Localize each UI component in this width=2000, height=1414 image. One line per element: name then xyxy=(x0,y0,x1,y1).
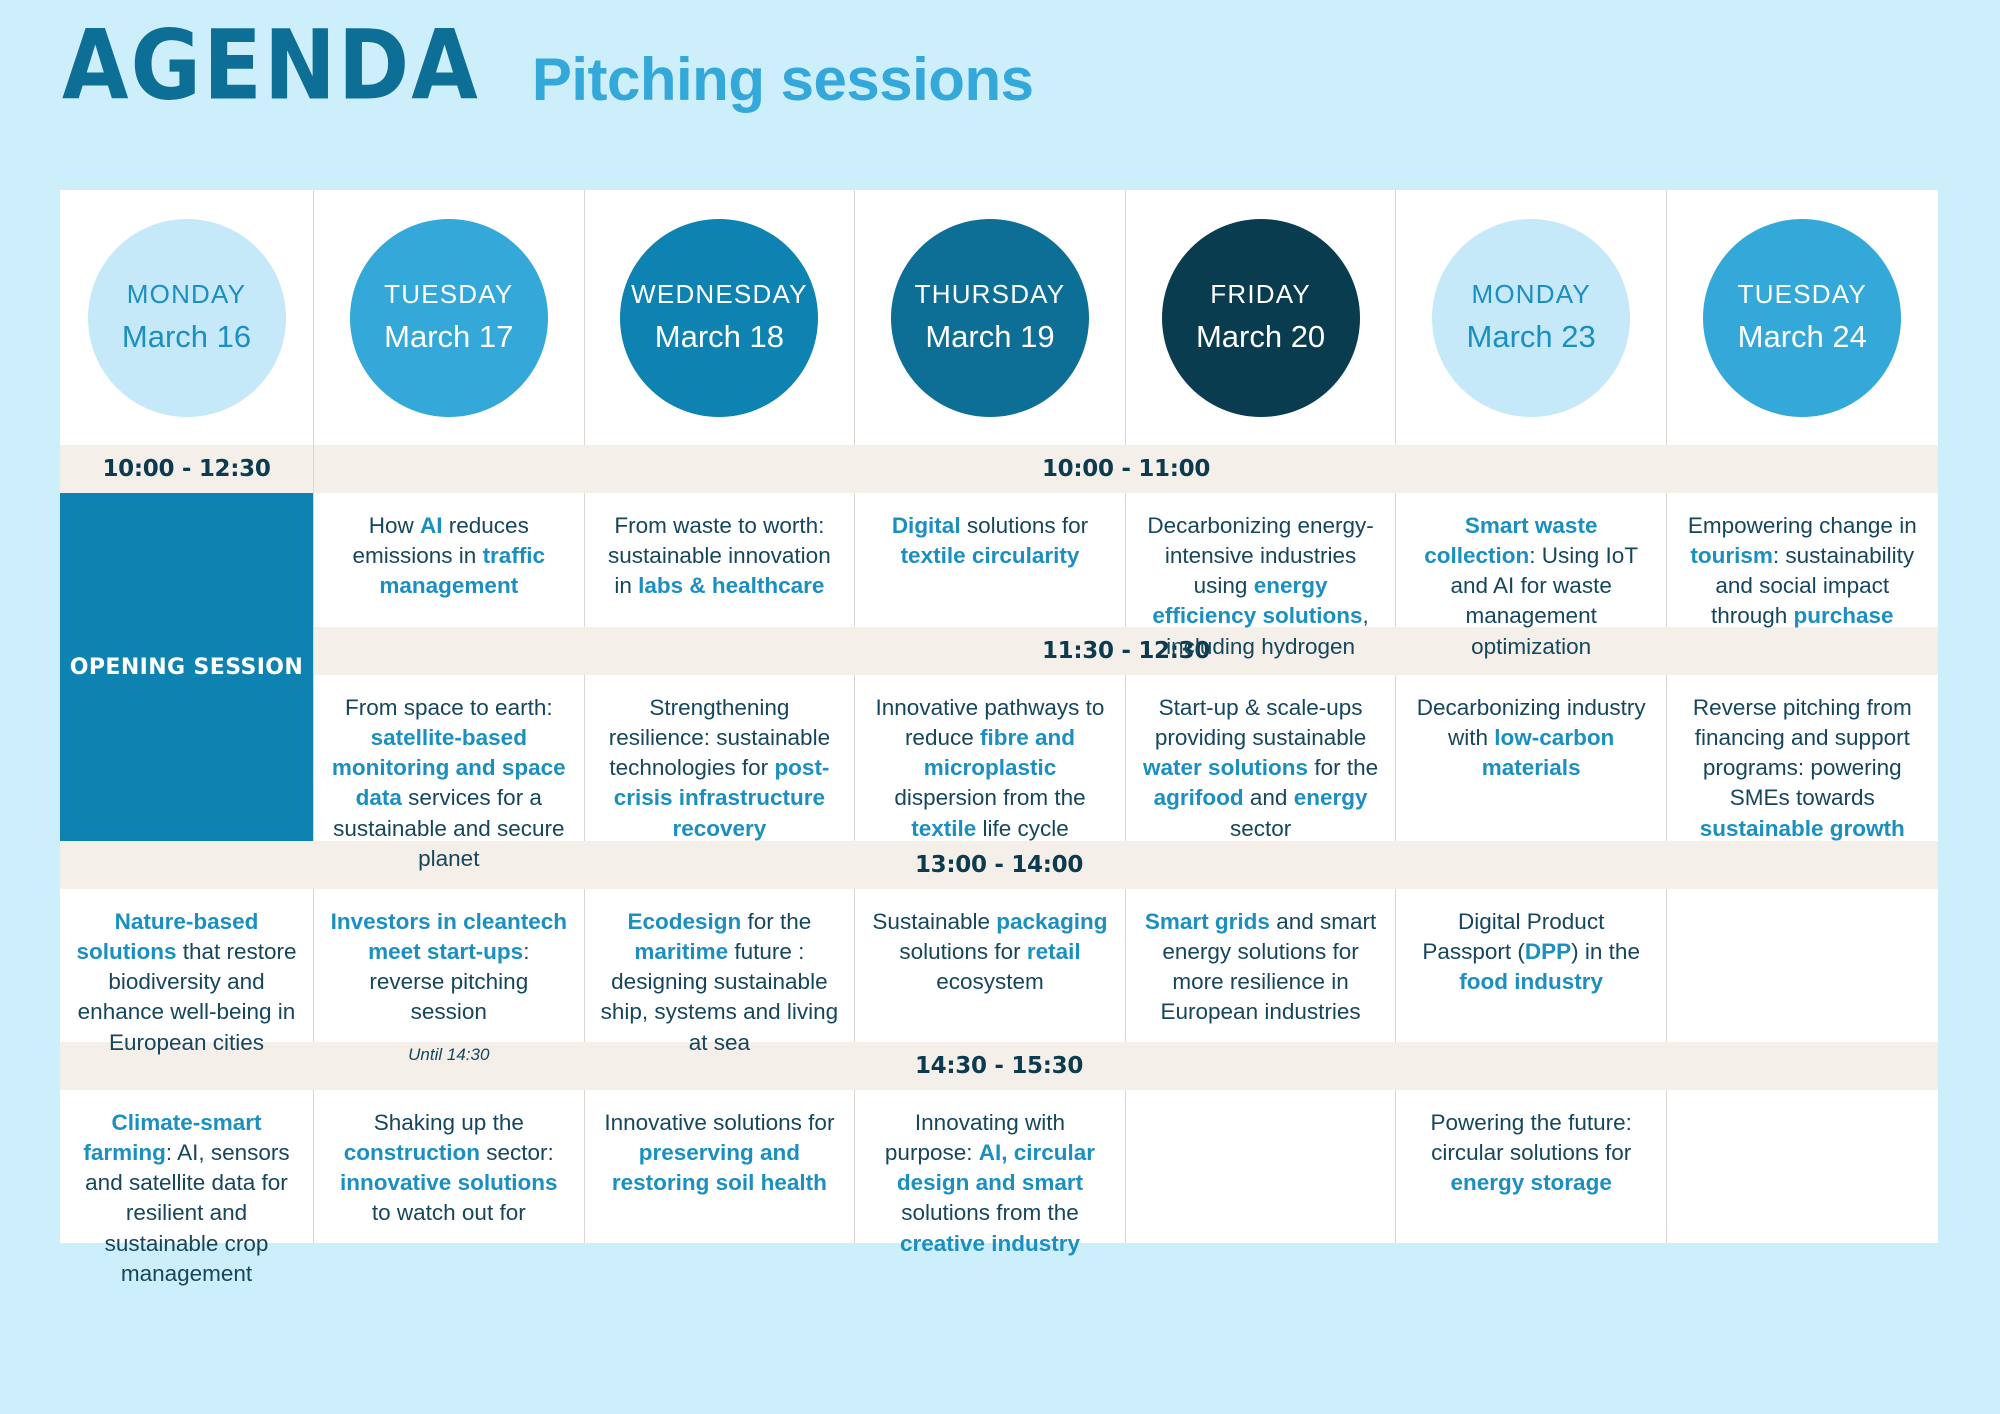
session-text: Digital solutions for textile circularit… xyxy=(892,513,1088,568)
session-text: Innovative solutions for preserving and … xyxy=(604,1110,834,1195)
session-cell[interactable]: Strengthening resilience: sustainable te… xyxy=(585,675,856,841)
session-row-2: From space to earth: satellite-based mon… xyxy=(314,675,1938,841)
session-cell[interactable]: Innovative pathways to reduce fibre and … xyxy=(855,675,1126,841)
page-title: AGENDA xyxy=(62,18,480,114)
day-circle: THURSDAYMarch 19 xyxy=(891,219,1089,417)
session-cell[interactable]: Digital Product Passport (DPP) in the fo… xyxy=(1396,889,1667,1042)
opening-block-row: OPENING SESSION How AI reduces emissions… xyxy=(60,493,1938,841)
day-date: March 20 xyxy=(1196,317,1325,358)
session-cell[interactable]: Reverse pitching from financing and supp… xyxy=(1667,675,1938,841)
day-circle: MONDAYMarch 16 xyxy=(88,219,286,417)
day-date: March 16 xyxy=(122,317,251,358)
session-text: Empowering change in tourism: sustainabi… xyxy=(1688,513,1917,628)
day-column-header-6: MONDAYMarch 23 xyxy=(1396,190,1667,445)
day-name: THURSDAY xyxy=(915,277,1066,311)
day-column-header-5: FRIDAYMarch 20 xyxy=(1126,190,1397,445)
time-band-1000-1100: 10:00 - 11:00 xyxy=(314,445,1938,493)
session-cell[interactable] xyxy=(1667,889,1938,1042)
session-text: Digital Product Passport (DPP) in the fo… xyxy=(1422,909,1640,994)
page-subtitle: Pitching sessions xyxy=(532,50,1034,110)
opening-session-cell: OPENING SESSION xyxy=(60,493,314,841)
day-circle: FRIDAYMarch 20 xyxy=(1162,219,1360,417)
session-cell[interactable]: Innovating with purpose: AI, circular de… xyxy=(855,1090,1126,1243)
time-band-opening: 10:00 - 12:30 xyxy=(60,445,314,493)
day-date: March 18 xyxy=(655,317,784,358)
day-circle: TUESDAYMarch 24 xyxy=(1703,219,1901,417)
time-band-row-1: 10:00 - 12:30 10:00 - 11:00 xyxy=(60,445,1938,493)
day-name: TUESDAY xyxy=(1738,277,1867,311)
time-band-1300-1400: 13:00 - 14:00 xyxy=(60,841,1938,889)
session-text: Decarbonizing energy-intensive industrie… xyxy=(1147,513,1373,659)
session-text: Sustainable packaging solutions for reta… xyxy=(872,909,1107,994)
session-cell[interactable]: From waste to worth: sustainable innovat… xyxy=(585,493,856,627)
session-text: Ecodesign for the maritime future : desi… xyxy=(601,909,839,1055)
session-cell[interactable]: Empowering change in tourism: sustainabi… xyxy=(1667,493,1938,627)
session-cell[interactable] xyxy=(1126,1090,1397,1243)
time-band-1130-1230: 11:30 - 12:30 xyxy=(314,627,1938,675)
agenda-grid: MONDAYMarch 16TUESDAYMarch 17WEDNESDAYMa… xyxy=(60,190,1938,1243)
session-text: Powering the future: circular solutions … xyxy=(1430,1110,1631,1195)
session-text: Shaking up the construction sector: inno… xyxy=(340,1110,558,1225)
day-column-header-2: TUESDAYMarch 17 xyxy=(314,190,585,445)
page-header: AGENDA Pitching sessions xyxy=(0,0,2000,150)
day-date: March 17 xyxy=(384,317,513,358)
day-circle: WEDNESDAYMarch 18 xyxy=(620,219,818,417)
session-text: From waste to worth: sustainable innovat… xyxy=(608,513,831,598)
session-cell[interactable]: Sustainable packaging solutions for reta… xyxy=(855,889,1126,1042)
day-name: MONDAY xyxy=(1471,277,1590,311)
day-date: March 23 xyxy=(1467,317,1596,358)
session-row-3: Nature-based solutions that restore biod… xyxy=(60,889,1938,1042)
session-cell[interactable]: Start-up & scale-ups providing sustainab… xyxy=(1126,675,1397,841)
session-text: Innovative pathways to reduce fibre and … xyxy=(876,695,1105,841)
time-band-row-3: 13:00 - 14:00 xyxy=(60,841,1938,889)
session-text: Smart grids and smart energy solutions f… xyxy=(1145,909,1376,1024)
session-text: Investors in cleantech meet start-ups: r… xyxy=(331,909,567,1024)
session-text: Nature-based solutions that restore biod… xyxy=(76,909,296,1055)
session-text: How AI reduces emissions in traffic mana… xyxy=(353,513,546,598)
session-text: Reverse pitching from financing and supp… xyxy=(1693,695,1912,841)
agenda-page: AGENDA Pitching sessions MONDAYMarch 16T… xyxy=(0,0,2000,1414)
session-cell[interactable]: Decarbonizing energy-intensive industrie… xyxy=(1126,493,1397,627)
day-name: TUESDAY xyxy=(384,277,513,311)
session-cell[interactable]: Investors in cleantech meet start-ups: r… xyxy=(314,889,585,1042)
day-date: March 19 xyxy=(925,317,1054,358)
day-date: March 24 xyxy=(1738,317,1867,358)
session-row-1: How AI reduces emissions in traffic mana… xyxy=(314,493,1938,627)
session-cell[interactable]: Digital solutions for textile circularit… xyxy=(855,493,1126,627)
session-cell[interactable]: Ecodesign for the maritime future : desi… xyxy=(585,889,856,1042)
day-column-header-4: THURSDAYMarch 19 xyxy=(855,190,1126,445)
day-circle: MONDAYMarch 23 xyxy=(1432,219,1630,417)
session-cell[interactable]: Innovative solutions for preserving and … xyxy=(585,1090,856,1243)
session-cell[interactable]: Powering the future: circular solutions … xyxy=(1396,1090,1667,1243)
day-circle: TUESDAYMarch 17 xyxy=(350,219,548,417)
session-cell[interactable]: From space to earth: satellite-based mon… xyxy=(314,675,585,841)
day-name: FRIDAY xyxy=(1210,277,1311,311)
session-note: Until 14:30 xyxy=(330,1044,568,1067)
session-cell[interactable]: Smart grids and smart energy solutions f… xyxy=(1126,889,1397,1042)
session-row-4: Climate-smart farming: AI, sensors and s… xyxy=(60,1090,1938,1243)
day-header-row: MONDAYMarch 16TUESDAYMarch 17WEDNESDAYMa… xyxy=(60,190,1938,445)
session-text: Climate-smart farming: AI, sensors and s… xyxy=(83,1110,289,1286)
session-cell[interactable]: How AI reduces emissions in traffic mana… xyxy=(314,493,585,627)
session-cell[interactable]: Climate-smart farming: AI, sensors and s… xyxy=(60,1090,314,1243)
day-name: WEDNESDAY xyxy=(631,277,807,311)
day-column-header-3: WEDNESDAYMarch 18 xyxy=(585,190,856,445)
day-column-header-7: TUESDAYMarch 24 xyxy=(1667,190,1938,445)
session-text: Start-up & scale-ups providing sustainab… xyxy=(1143,695,1378,841)
session-cell[interactable] xyxy=(1667,1090,1938,1243)
session-text: Innovating with purpose: AI, circular de… xyxy=(885,1110,1095,1256)
day-name: MONDAY xyxy=(127,277,246,311)
session-text: Strengthening resilience: sustainable te… xyxy=(609,695,830,841)
session-cell[interactable]: Decarbonizing industry with low-carbon m… xyxy=(1396,675,1667,841)
session-cell[interactable]: Nature-based solutions that restore biod… xyxy=(60,889,314,1042)
session-text: Decarbonizing industry with low-carbon m… xyxy=(1417,695,1646,780)
session-cell[interactable]: Shaking up the construction sector: inno… xyxy=(314,1090,585,1243)
session-cell[interactable]: Smart waste collection: Using IoT and AI… xyxy=(1396,493,1667,627)
day-column-header-1: MONDAYMarch 16 xyxy=(60,190,314,445)
